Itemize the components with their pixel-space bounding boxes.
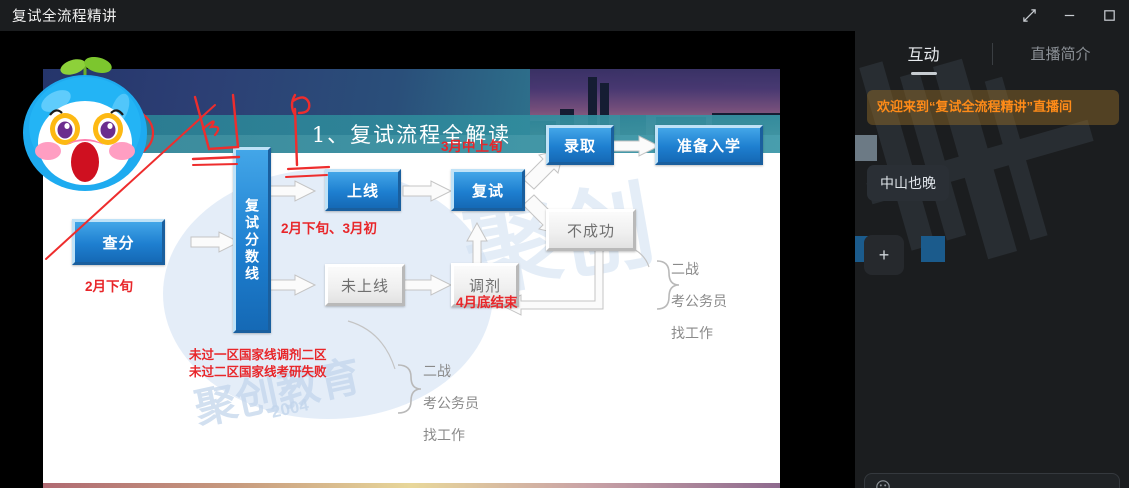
title-bar: 复试全流程精讲 xyxy=(0,0,1129,31)
flow-box-zhunbei-ruxue: 准备入学 xyxy=(655,125,763,165)
flow-box-luqu: 录取 xyxy=(546,125,614,165)
render-block-3 xyxy=(921,236,945,262)
tab-interaction[interactable]: 互动 xyxy=(855,31,992,77)
minimize-icon[interactable] xyxy=(1049,0,1089,31)
tab-divider xyxy=(992,43,993,65)
branch-label-erzhan: 二战 xyxy=(671,259,699,279)
avatar xyxy=(16,57,154,195)
chat-message-text: 中山也晚 xyxy=(880,175,936,191)
flow-box-chafen: 查分 xyxy=(72,219,165,265)
video-stage[interactable]: 1、复试流程全解读 聚创 聚创教育 2004 xyxy=(0,31,855,488)
flow-box-label: 未上线 xyxy=(341,275,389,296)
branch2-label-kaogongwuyuan: 考公务员 xyxy=(423,393,479,413)
flow-box-label: 上线 xyxy=(347,180,379,201)
add-button-label: + xyxy=(879,245,890,266)
welcome-notice: 欢迎来到“复试全流程精讲”直播间 xyxy=(867,90,1119,125)
red-note-guojiaxian: 未过一区国家线调剂二区 未过二区国家线考研失败 xyxy=(189,347,327,381)
flow-box-label: 录取 xyxy=(564,135,596,156)
flow-box-fushi-fenshuxian: 复试分数线 xyxy=(233,147,271,333)
render-block-1 xyxy=(855,135,877,161)
red-note-3yue-zhongshang: 3月中上旬 xyxy=(441,135,503,155)
flow-box-shangxian: 上线 xyxy=(325,169,401,211)
window-controls xyxy=(1009,0,1129,31)
flow-box-label: 复试分数线 xyxy=(242,198,262,283)
red-note-4yue-di: 4月底结束 xyxy=(456,291,518,311)
flow-box-fushi: 复试 xyxy=(451,169,525,211)
tab-live-intro-label: 直播简介 xyxy=(1030,46,1090,63)
chat-input[interactable] xyxy=(864,473,1120,488)
flow-box-wei-shangxian: 未上线 xyxy=(325,264,405,306)
branch2-label-erzhan: 二战 xyxy=(423,361,451,381)
flow-box-label: 复试 xyxy=(472,180,504,201)
maximize-icon[interactable] xyxy=(1089,0,1129,31)
branch2-label-zhaogongzuo: 找工作 xyxy=(423,425,465,445)
branch-label-zhaogongzuo: 找工作 xyxy=(671,323,713,343)
red-note-2yue-xiaxun: 2月下旬 xyxy=(85,275,133,295)
flow-box-label: 查分 xyxy=(102,232,134,253)
slide-footer-gradient xyxy=(43,483,780,488)
live-class-window: 复试全流程精讲 xyxy=(0,0,1129,488)
flow-box-label: 不成功 xyxy=(567,220,615,241)
panel-tabs: 互动 直播简介 xyxy=(855,31,1129,77)
flow-box-label: 准备入学 xyxy=(677,135,741,156)
restore-down-icon[interactable] xyxy=(1009,0,1049,31)
branch-label-kaogongwuyuan: 考公务员 xyxy=(671,291,727,311)
tab-interaction-label: 互动 xyxy=(907,47,939,64)
red-note-2yue-3yue: 2月下旬、3月初 xyxy=(281,217,377,237)
emoji-icon[interactable] xyxy=(875,479,891,488)
add-button[interactable]: + xyxy=(864,235,904,275)
window-title: 复试全流程精讲 xyxy=(12,5,117,26)
tab-live-intro[interactable]: 直播简介 xyxy=(992,33,1129,76)
chat-message: 中山也晚 xyxy=(867,165,949,201)
flow-box-bu-chenggong: 不成功 xyxy=(546,209,636,251)
